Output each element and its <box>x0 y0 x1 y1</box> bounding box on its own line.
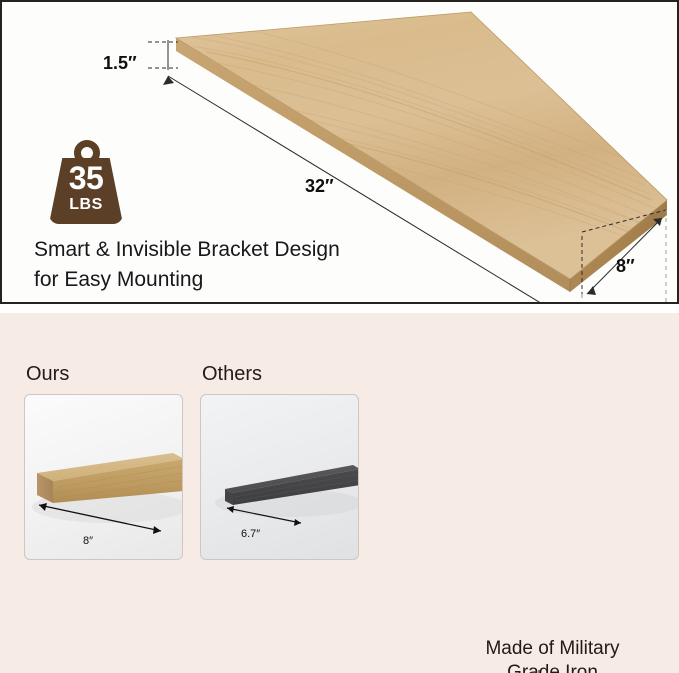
military-grade-line2: Grade Iron <box>430 661 675 673</box>
ours-dimension-label: 8″ <box>83 535 93 547</box>
dimension-label-height: 1.5″ <box>103 53 137 74</box>
others-dimension-label: 6.7″ <box>241 528 260 540</box>
military-grade-line1: Made of Military <box>430 637 675 661</box>
dimension-label-depth: 8″ <box>616 256 635 277</box>
ours-shelf-graphic <box>25 395 183 560</box>
comparison-heading-ours: Ours <box>26 363 69 386</box>
weight-capacity-badge: 35 LBS <box>47 140 125 228</box>
top-headline-line2: for Easy Mounting <box>34 265 454 295</box>
comparison-heading-others: Others <box>202 363 262 386</box>
top-headline: Smart & Invisible Bracket Design for Eas… <box>34 235 454 295</box>
bottom-panel: Ours Others <box>0 313 679 673</box>
others-shelf-graphic <box>201 395 359 560</box>
military-grade-label: Made of Military Grade Iron <box>430 637 675 673</box>
weight-unit: LBS <box>47 197 125 213</box>
weight-value: 35 <box>47 162 125 194</box>
comparison-photo-others: 6.7″ <box>200 394 359 560</box>
dimension-label-length: 32″ <box>305 176 334 197</box>
top-panel: 35 LBS 1.5″ 32″ 8″ Smart & Invisible Bra… <box>0 0 679 304</box>
comparison-photo-ours: 8″ <box>24 394 183 560</box>
top-headline-line1: Smart & Invisible Bracket Design <box>34 235 454 265</box>
